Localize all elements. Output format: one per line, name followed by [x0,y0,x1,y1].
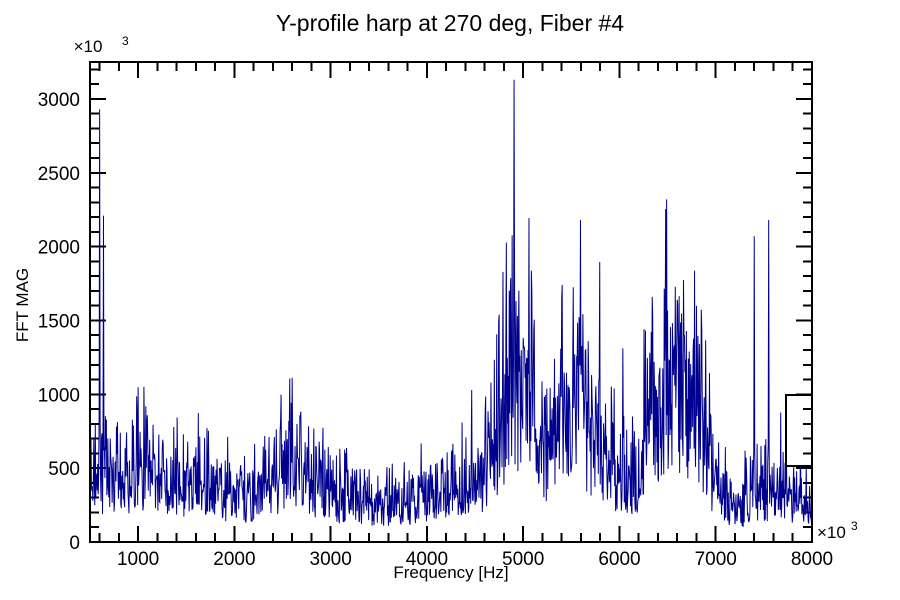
y-tick-label: 1500 [38,311,80,332]
x-exponent-base: ×10 [817,523,846,542]
y-tick-label: 0 [69,533,80,554]
x-tick-label: 6000 [598,549,640,570]
y-tick-label: 500 [48,459,80,480]
x-tick-label: 7000 [695,549,737,570]
stats-box[interactable] [786,395,812,466]
chart-canvas: Y-profile harp at 270 deg, Fiber #4 0500… [0,0,900,600]
x-tick-label: 1000 [117,549,159,570]
x-tick-label: 8000 [791,549,833,570]
y-tick-label: 1000 [38,385,80,406]
y-tick-label: 2000 [38,238,80,259]
y-exponent-superscript: 3 [122,34,129,48]
chart-title: Y-profile harp at 270 deg, Fiber #4 [276,10,624,36]
x-exponent-superscript: 3 [851,519,858,533]
x-tick-label: 3000 [310,549,352,570]
y-tick-label: 2500 [38,164,80,185]
y-exponent-base: ×10 [74,37,103,56]
y-axis-title: FFT MAG [13,268,32,342]
chart-root: Y-profile harp at 270 deg, Fiber #4 0500… [0,0,900,600]
y-tick-label: 3000 [38,90,80,111]
x-tick-label: 2000 [213,549,255,570]
x-axis-title: Frequency [Hz] [393,563,508,582]
